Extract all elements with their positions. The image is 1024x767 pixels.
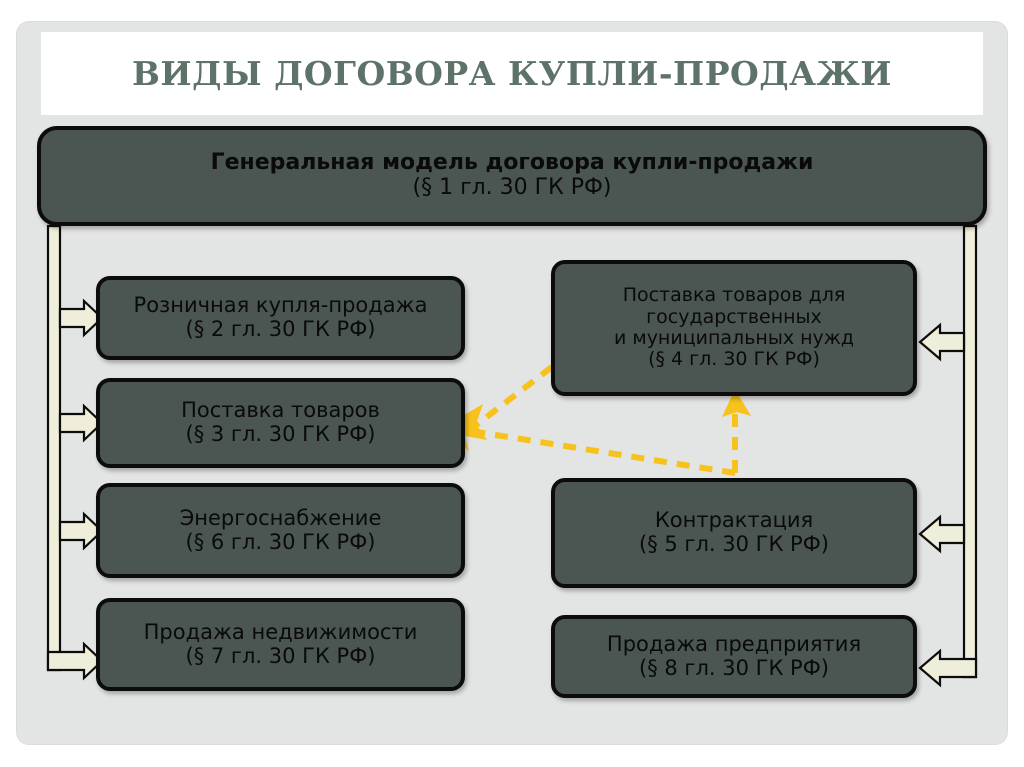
node-state-municipal-supply[interactable]: Поставка товаров для государственных и м…: [551, 260, 917, 396]
node-heading: Контрактация: [655, 509, 813, 533]
node-reference: (§ 5 гл. 30 ГК РФ): [639, 533, 829, 557]
node-reference: (§ 7 гл. 30 ГК РФ): [186, 645, 376, 669]
node-real-estate-sale[interactable]: Продажа недвижимости (§ 7 гл. 30 ГК РФ): [96, 598, 465, 691]
node-reference: (§ 2 гл. 30 ГК РФ): [186, 318, 376, 342]
node-heading: Поставка товаров: [181, 399, 380, 423]
node-heading: Продажа недвижимости: [144, 621, 418, 645]
node-energy-supply[interactable]: Энергоснабжение (§ 6 гл. 30 ГК РФ): [96, 483, 465, 578]
node-enterprise-sale[interactable]: Продажа предприятия (§ 8 гл. 30 ГК РФ): [551, 615, 917, 698]
left-trunk: [48, 226, 60, 670]
node-reference: (§ 6 гл. 30 ГК РФ): [186, 531, 376, 555]
node-heading-line-2: государственных: [646, 307, 822, 328]
node-retail-sale[interactable]: Розничная купля-продажа (§ 2 гл. 30 ГК Р…: [96, 276, 465, 360]
node-reference: (§ 8 гл. 30 ГК РФ): [639, 657, 829, 681]
node-reference: (§ 4 гл. 30 ГК РФ): [648, 349, 820, 370]
slide-canvas: ВИДЫ ДОГОВОРА КУПЛИ-ПРОДАЖИ: [17, 22, 1007, 744]
right-arrow-1: [920, 325, 964, 359]
node-heading: Розничная купля-продажа: [134, 294, 428, 318]
node-reference: (§ 3 гл. 30 ГК РФ): [186, 423, 376, 447]
left-arrow-4: [48, 644, 102, 678]
node-heading: Энергоснабжение: [180, 507, 382, 531]
node-goods-supply[interactable]: Поставка товаров (§ 3 гл. 30 ГК РФ): [96, 378, 465, 468]
node-general-model[interactable]: Генеральная модель договора купли-продаж…: [37, 126, 987, 226]
title-band: ВИДЫ ДОГОВОРА КУПЛИ-ПРОДАЖИ: [41, 32, 983, 115]
right-connector-group: [920, 226, 976, 685]
node-heading-line-1: Поставка товаров для: [623, 285, 846, 306]
right-arrow-3: [920, 651, 976, 685]
node-contracting[interactable]: Контрактация (§ 5 гл. 30 ГК РФ): [551, 478, 917, 588]
left-connector-group: [48, 226, 102, 678]
node-heading: Продажа предприятия: [607, 633, 861, 657]
page-title: ВИДЫ ДОГОВОРА КУПЛИ-ПРОДАЖИ: [132, 54, 892, 93]
right-trunk: [964, 226, 976, 677]
node-heading-line-3: и муниципальных нужд: [614, 328, 854, 349]
dashed-arrow-contract-to-supply: [477, 432, 735, 473]
right-arrow-2: [920, 517, 964, 551]
node-heading: Генеральная модель договора купли-продаж…: [211, 151, 814, 176]
node-reference: (§ 1 гл. 30 ГК РФ): [413, 176, 612, 201]
